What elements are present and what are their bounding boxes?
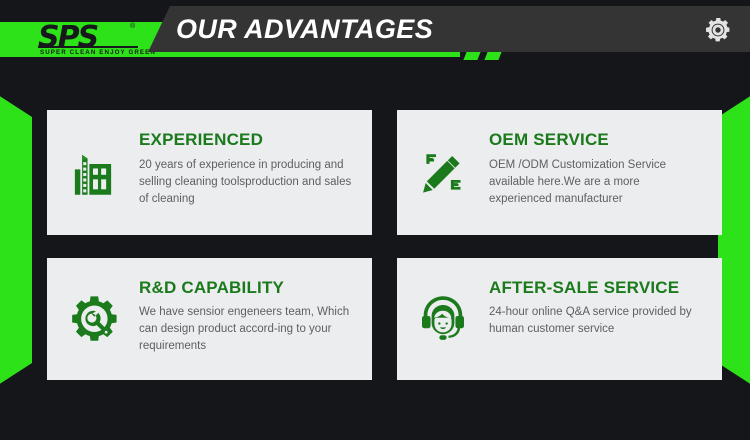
advantage-card-oem-service[interactable]: OEM SERVICE OEM /ODM Customization Servi… xyxy=(397,110,722,235)
logo-tagline: SUPER CLEAN ENJOY GREEN xyxy=(40,49,156,56)
card-description: We have sensior engeneers team, Which ca… xyxy=(139,304,354,355)
brand-logo[interactable]: SPS ® SUPER CLEAN ENJOY GREEN xyxy=(34,24,144,58)
card-title: OEM SERVICE xyxy=(489,130,704,150)
logo-divider xyxy=(38,46,138,48)
card-body: OEM SERVICE OEM /ODM Customization Servi… xyxy=(489,110,714,208)
headset-support-icon xyxy=(397,258,489,380)
card-title: AFTER-SALE SERVICE xyxy=(489,278,704,298)
building-icon xyxy=(47,110,139,235)
logo-registered-mark: ® xyxy=(130,23,135,30)
card-title: R&D CAPABILITY xyxy=(139,278,354,298)
card-body: EXPERIENCED 20 years of experience in pr… xyxy=(139,110,364,208)
card-title: EXPERIENCED xyxy=(139,130,354,150)
page-header: SPS ® SUPER CLEAN ENJOY GREEN OUR ADVANT… xyxy=(0,0,750,70)
card-body: R&D CAPABILITY We have sensior engeneers… xyxy=(139,258,364,355)
card-description: 20 years of experience in producing and … xyxy=(139,157,354,208)
advantage-card-experienced[interactable]: EXPERIENCED 20 years of experience in pr… xyxy=(47,110,372,235)
card-description: OEM /ODM Customization Service available… xyxy=(489,157,704,208)
gear-wrench-icon xyxy=(47,258,139,380)
advantage-card-after-sale-service[interactable]: AFTER-SALE SERVICE 24-hour online Q&A se… xyxy=(397,258,722,380)
pencil-design-icon xyxy=(397,110,489,235)
page-title: OUR ADVANTAGES xyxy=(176,14,433,45)
card-body: AFTER-SALE SERVICE 24-hour online Q&A se… xyxy=(489,258,714,338)
card-description: 24-hour online Q&A service provided by h… xyxy=(489,304,704,338)
gear-icon[interactable] xyxy=(702,14,734,46)
advantage-card-rd-capability[interactable]: R&D CAPABILITY We have sensior engeneers… xyxy=(47,258,372,380)
